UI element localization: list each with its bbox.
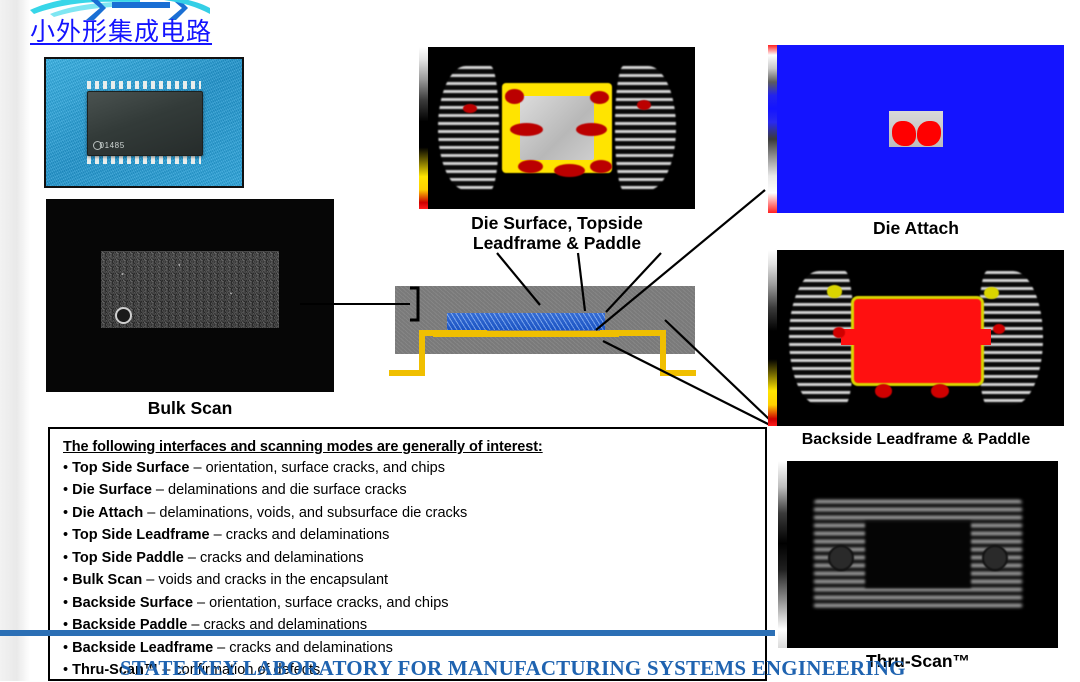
defect-blob [827,285,842,297]
die-attach-image [768,45,1064,213]
slide-left-edge [0,0,30,681]
textbox-list-item: • Bulk Scan – voids and cracks in the en… [63,570,755,591]
topside-scan-image [419,47,695,209]
thru-scan-field [778,461,1058,648]
list-item-term: Bulk Scan [72,572,142,588]
thru-scan-image [778,461,1058,648]
defect-blob [590,91,609,104]
color-scale-bar [768,250,777,426]
list-item-term: Top Side Leadframe [72,527,210,543]
void-region [892,121,916,146]
list-item-term: Backside Surface [72,595,193,611]
soic-photo-image: 01485 [44,57,244,188]
textbox-list-item: • Top Side Paddle – cracks and delaminat… [63,548,755,569]
feature-marker [982,545,1008,571]
defect-blob [875,384,893,398]
die-attach-panel: Die Attach [768,45,1064,213]
list-item-description: – cracks and delaminations [210,527,390,543]
topside-caption-line2: Leadframe & Paddle [419,233,695,253]
list-item-term: Top Side Paddle [72,550,184,566]
paddle-nub [977,329,992,345]
topside-caption-line1: Die Surface, Topside [419,213,695,233]
die-attach-caption: Die Attach [768,218,1064,238]
list-item-term: Die Attach [72,505,143,521]
list-item-term: Backside Leadframe [72,640,213,656]
color-scale-bar [419,47,428,209]
package-body: 01485 [87,91,203,157]
leadframe-fingers-right [615,66,676,189]
lead-right-inner [600,330,666,336]
list-item-description: – cracks and delaminations [184,550,364,566]
defect-blob [984,287,999,299]
defect-blob [931,384,949,398]
thru-scan-panel: Thru-Scan™ [778,461,1058,648]
list-item-term: Die Surface [72,482,152,498]
defect-blob [505,89,524,104]
backside-caption: Backside Leadframe & Paddle [768,431,1064,449]
interfaces-textbox: The following interfaces and scanning mo… [48,427,767,681]
list-item-description: – orientation, surface cracks, and chips [193,595,449,611]
list-item-term: Top Side Surface [72,460,189,476]
die-shadow-region [865,521,971,588]
package-pins-bottom [87,156,201,164]
soic-cross-section [395,286,695,396]
list-item-description: – voids and cracks in the encapsulant [142,572,388,588]
list-item-description: – delaminations, voids, and subsurface d… [143,505,467,521]
bulk-scan-image [46,199,334,392]
textbox-list-item: • Die Surface – delaminations and die su… [63,480,755,501]
bulk-scan-panel: Bulk Scan [46,199,334,392]
textbox-heading: The following interfaces and scanning mo… [63,439,755,455]
footer-rule [0,630,775,636]
lead-right-foot [660,370,696,376]
gray-scale-bar [778,461,787,648]
textbox-list-item: • Backside Surface – orientation, surfac… [63,593,755,614]
die-attach-field [768,45,1064,213]
list-item-description: – cracks and delaminations [213,640,393,656]
list-item-description: – delaminations and die surface cracks [152,482,407,498]
silicon-die [447,313,605,330]
lead-left-inner [425,330,487,336]
acoustic-field [419,47,695,209]
void-region [917,121,941,146]
footer-label: STATE KEY LABORATORY FOR MANUFACTURING S… [120,656,1080,681]
backside-panel: Backside Leadframe & Paddle [768,250,1064,426]
slide-canvas: 小外形集成电路 01485 [0,0,1080,681]
page-title: 小外形集成电路 [30,12,212,48]
lead-left-foot [389,370,425,376]
bulk-field [46,199,334,392]
textbox-list-item: • Top Side Leadframe – cracks and delami… [63,525,755,546]
color-scale-bar [768,45,777,213]
chip-marking-label: 01485 [100,141,125,150]
bulk-scan-caption: Bulk Scan [46,398,334,418]
textbox-list: • Top Side Surface – orientation, surfac… [60,458,755,682]
acoustic-field [768,250,1064,426]
topside-scan-panel: Die Surface, Topside Leadframe & Paddle [419,47,695,209]
textbox-list-item: • Top Side Surface – orientation, surfac… [63,458,755,479]
defect-blob [637,100,651,110]
textbox-list-item: • Die Attach – delaminations, voids, and… [63,503,755,524]
backside-scan-image [768,250,1064,426]
defect-blob [833,327,845,338]
topside-caption: Die Surface, Topside Leadframe & Paddle [419,213,695,253]
soic-package-photo: 01485 [44,57,244,188]
defect-blob [576,123,606,136]
defect-blob [554,164,584,177]
package-pins-top [87,81,201,89]
list-item-description: – orientation, surface cracks, and chips [189,460,445,476]
leadframe-fingers-left [438,66,499,189]
paddle-region [851,296,984,386]
